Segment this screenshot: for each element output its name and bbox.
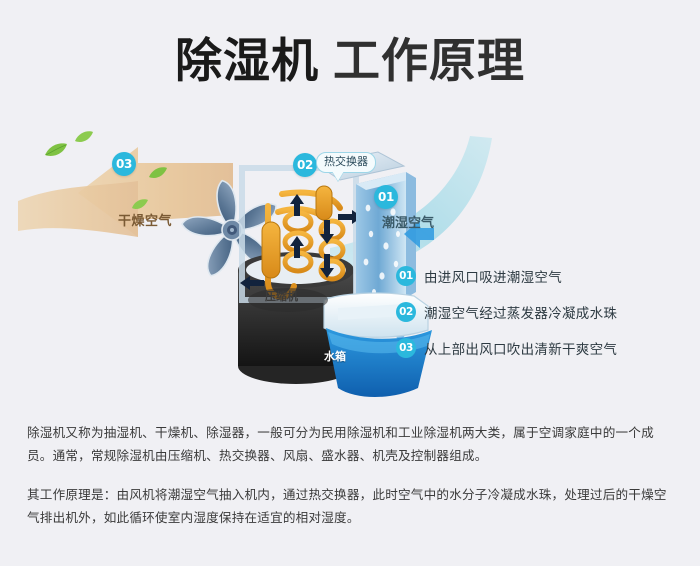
callout-pointer-icon: [332, 171, 344, 181]
step-text-03: 从上部出风口吹出清新干爽空气: [424, 338, 617, 358]
body-copy: 除湿机又称为抽湿机、干燥机、除湿器，一般可分为民用除湿机和工业除湿机两大类，属于…: [27, 421, 675, 529]
diagram-badge-01: 01: [374, 185, 398, 209]
paragraph-2: 其工作原理是：由风机将潮湿空气抽入机内，通过热交换器，此时空气中的水分子冷凝成水…: [27, 483, 675, 529]
step-text-01: 由进风口吸进潮湿空气: [424, 266, 562, 286]
list-item: 02 潮湿空气经过蒸发器冷凝成水珠: [396, 294, 686, 330]
leaf-icon: [148, 166, 168, 180]
water-tank-label: 水箱: [324, 348, 346, 364]
compressor-label: 压缩机: [265, 288, 298, 304]
steps-list: 01 由进风口吸进潮湿空气 02 潮湿空气经过蒸发器冷凝成水珠 03 从上部出风…: [396, 258, 686, 366]
leaf-icon: [44, 142, 68, 158]
list-item: 01 由进风口吸进潮湿空气: [396, 258, 686, 294]
moist-air-label: 潮湿空气: [382, 212, 434, 231]
dry-air-label: 干燥空气: [118, 210, 172, 229]
step-text-02: 潮湿空气经过蒸发器冷凝成水珠: [424, 302, 617, 322]
paragraph-1: 除湿机又称为抽湿机、干燥机、除湿器，一般可分为民用除湿机和工业除湿机两大类，属于…: [27, 421, 675, 467]
infographic-page: 除湿机工作原理: [0, 0, 700, 566]
diagram-badge-02: 02: [293, 153, 317, 177]
title-part-1: 除湿机: [175, 34, 319, 89]
heat-exchanger-callout: 热交换器: [316, 152, 376, 173]
list-item: 03 从上部出风口吹出清新干爽空气: [396, 330, 686, 366]
step-badge-01: 01: [396, 266, 416, 286]
leaf-icon: [74, 130, 94, 144]
page-title: 除湿机工作原理: [0, 33, 700, 91]
diagram-badge-03: 03: [112, 152, 136, 176]
step-badge-02: 02: [396, 302, 416, 322]
title-part-2: 工作原理: [333, 34, 525, 89]
step-badge-03: 03: [396, 338, 416, 358]
